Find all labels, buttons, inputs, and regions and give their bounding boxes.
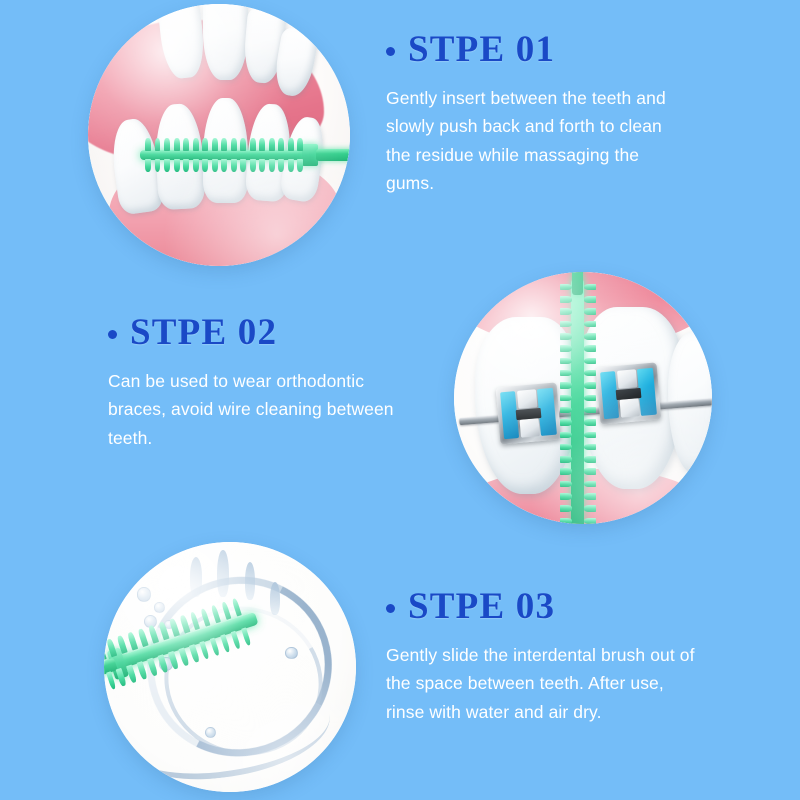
brush-core [571, 278, 583, 524]
brush-bristle [200, 608, 211, 627]
water-droplet [154, 602, 165, 613]
brush-bristle [174, 159, 180, 172]
brush-bristle [269, 159, 275, 172]
step-03-heading-label: STPE 03 [408, 588, 555, 625]
water-droplet [285, 647, 297, 659]
interdental-brush-icon [557, 272, 598, 524]
brush-bristle [560, 518, 572, 524]
brush-bristle [560, 382, 572, 389]
brush-bristle [560, 432, 572, 439]
brush-bristle [189, 644, 200, 663]
brush-bristle [193, 138, 199, 151]
brush-bristle [158, 654, 169, 673]
brush-bristle [297, 138, 303, 151]
bracket-tie [638, 368, 658, 417]
brush-bristle [193, 159, 199, 172]
water-droplet [137, 587, 152, 602]
brush-bristle [269, 138, 275, 151]
brush-bristle [259, 159, 265, 172]
brush-bristle [148, 625, 159, 644]
upper-tooth [203, 4, 248, 80]
brush-bristle [584, 444, 596, 451]
brush-bristle [212, 159, 218, 172]
brush-bristle [183, 159, 189, 172]
brush-bristle [209, 637, 220, 656]
brush-bristle [212, 138, 218, 151]
step-02-image-bubble [454, 272, 712, 524]
teeth-and-gums-illustration [88, 4, 350, 266]
brush-bristle [584, 284, 596, 291]
step-03-heading: STPE 03 [386, 588, 696, 625]
braces-illustration [454, 272, 712, 524]
step-03-image-bubble [104, 542, 356, 792]
brush-bristle [584, 407, 596, 414]
brush-bristle [584, 345, 596, 352]
brush-bristle [560, 358, 572, 365]
brush-bristle [127, 631, 138, 650]
brush-bristle [221, 601, 232, 620]
brush-bristle [584, 468, 596, 475]
water-droplet [205, 727, 216, 738]
brush-bristle [158, 621, 169, 640]
brush-bristle [169, 618, 180, 637]
brush-bristle [220, 634, 231, 653]
brush-bristle [560, 345, 572, 352]
brush-bristle [584, 296, 596, 303]
brush-bristle [278, 138, 284, 151]
step-01-heading: STPE 01 [386, 31, 686, 68]
brush-bristle [560, 395, 572, 402]
bullet-icon [108, 330, 117, 339]
brush-bristle [584, 505, 596, 512]
brush-handle [572, 272, 583, 295]
brush-bristle [288, 159, 294, 172]
bracket-face [617, 369, 638, 389]
step-02-body-text: Can be used to wear orthodontic braces, … [108, 367, 413, 452]
brush-bristle [183, 138, 189, 151]
bracket-face [519, 419, 540, 439]
brush-bristle [584, 382, 596, 389]
brush-bristle [231, 159, 237, 172]
water-spike [217, 550, 228, 598]
brush-bristle [231, 138, 237, 151]
brush-bristle [584, 432, 596, 439]
water-splash-illustration [104, 542, 356, 792]
step-01-image-bubble [88, 4, 350, 266]
step-02-text-block: STPE 02 Can be used to wear orthodontic … [108, 314, 413, 452]
brush-bristle [560, 419, 572, 426]
water-spike [190, 557, 203, 597]
brush-bristle [584, 419, 596, 426]
bracket-face [620, 399, 641, 419]
braces-bracket [596, 363, 661, 425]
brush-bristle [168, 651, 179, 670]
brush-bristle [584, 395, 596, 402]
brush-bristle [145, 159, 151, 172]
brush-bristle [189, 611, 200, 630]
brush-bristle [202, 159, 208, 172]
brush-bristle [241, 627, 252, 646]
brush-bristle [560, 407, 572, 414]
brush-bristle [560, 468, 572, 475]
brush-bristle [297, 159, 303, 172]
brush-bristle [231, 598, 242, 617]
brush-bristle [584, 321, 596, 328]
brush-bristle [584, 481, 596, 488]
brush-bristle [240, 159, 246, 172]
brush-bristle [202, 138, 208, 151]
step-01-heading-label: STPE 01 [408, 31, 555, 68]
brush-bristle [584, 518, 596, 524]
step-02-heading: STPE 02 [108, 314, 413, 351]
brush-bristle [584, 493, 596, 500]
brush-bristle [560, 370, 572, 377]
brush-bristle [560, 321, 572, 328]
brush-bristle [210, 604, 221, 623]
brush-bristle [178, 648, 189, 667]
bullet-icon [386, 604, 395, 613]
brush-bristle [104, 675, 106, 694]
brush-bristle [584, 308, 596, 315]
bracket-face [516, 389, 537, 409]
brush-bristle [288, 138, 294, 151]
brush-bristle [560, 333, 572, 340]
brush-bristle [278, 159, 284, 172]
brush-bristle [560, 493, 572, 500]
brush-bristle [126, 664, 137, 683]
brush-bristle [164, 159, 170, 172]
step-03-text-block: STPE 03 Gently slide the interdental bru… [386, 588, 696, 726]
brush-bristle [221, 138, 227, 151]
brush-bristle [259, 138, 265, 151]
brush-bristle [250, 138, 256, 151]
product-instruction-infographic: STPE 01 Gently insert between the teeth … [0, 0, 800, 800]
brush-bristle [584, 456, 596, 463]
brush-bristle [145, 138, 151, 151]
brush-bristle [560, 284, 572, 291]
step-02-heading-label: STPE 02 [130, 314, 277, 351]
brush-bristle [155, 159, 161, 172]
brush-bristle [560, 505, 572, 512]
interdental-brush-icon [140, 135, 350, 174]
brush-handle [316, 149, 350, 161]
brush-bristle [560, 456, 572, 463]
brush-bristle [137, 661, 148, 680]
brush-bristle [174, 138, 180, 151]
brush-bristle [584, 333, 596, 340]
step-01-body-text: Gently insert between the teeth and slow… [386, 84, 686, 197]
bullet-icon [386, 47, 395, 56]
brush-bristle [584, 358, 596, 365]
brush-bristle [560, 444, 572, 451]
brush-bristle [199, 641, 210, 660]
brush-bristle [230, 631, 241, 650]
step-01-text-block: STPE 01 Gently insert between the teeth … [386, 31, 686, 197]
brush-bristle [221, 159, 227, 172]
brush-bristle [560, 308, 572, 315]
brush-bristle [240, 138, 246, 151]
brush-bristle [147, 658, 158, 677]
brush-bristle [179, 614, 190, 633]
brush-bristle [137, 628, 148, 647]
brush-bristle [560, 296, 572, 303]
braces-bracket [495, 383, 560, 445]
brush-bristle [584, 370, 596, 377]
brush-bristle [104, 642, 107, 661]
brush-bristle [560, 481, 572, 488]
brush-bristle [164, 138, 170, 151]
brush-bristle [250, 159, 256, 172]
brush-bristle [155, 138, 161, 151]
step-03-body-text: Gently slide the interdental brush out o… [386, 641, 696, 726]
